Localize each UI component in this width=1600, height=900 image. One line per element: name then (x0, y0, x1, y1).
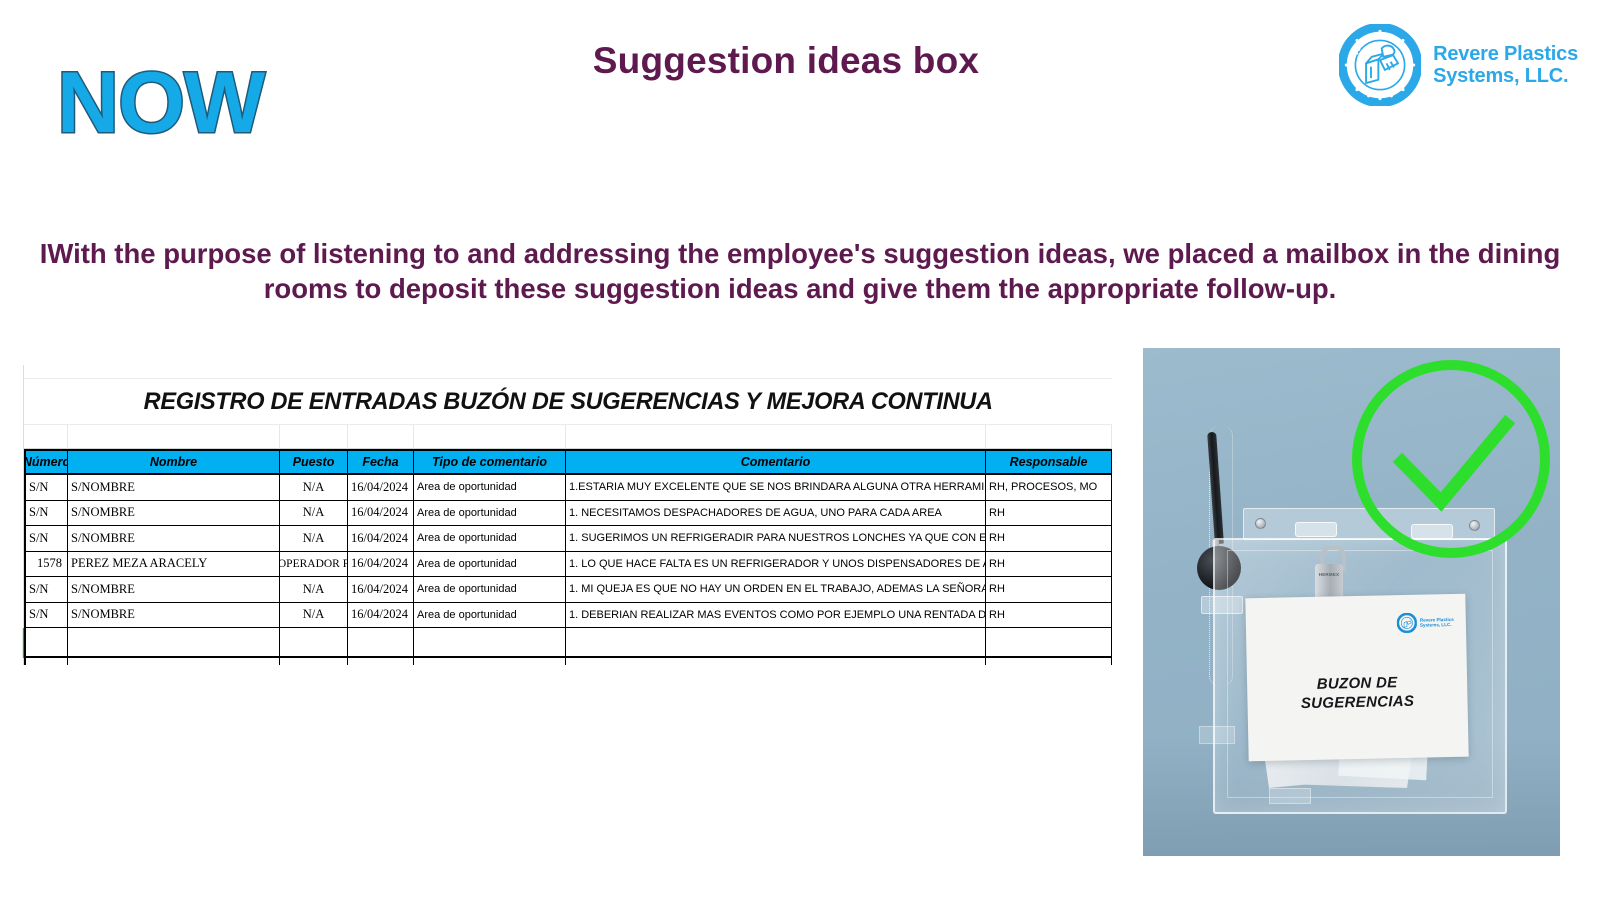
cell-numero: S/N (24, 603, 68, 629)
cell-tipo: Area de oportunidad (414, 552, 566, 578)
cell-fecha: 16/04/2024 (348, 603, 414, 629)
mount-screw-icon (1469, 520, 1480, 531)
slide-body-text: IWith the purpose of listening to and ad… (36, 236, 1564, 306)
cell-nombre: PEREZ MEZA ARACELY (68, 552, 280, 578)
spreadsheet-screenshot: 2 REGISTRO DE ENTRADAS BUZÓN DE SUGERENC… (22, 365, 1112, 665)
sign-company-name: Revere Plastics Systems, LLC. (1420, 617, 1454, 628)
cell-responsable: RH, PROCESOS, MO (986, 475, 1112, 501)
cell-puesto: N/A (280, 475, 348, 501)
cell-responsable: RH (986, 577, 1112, 603)
cell-comentario: 1. LO QUE HACE FALTA ES UN REFRIGERADOR … (566, 552, 986, 578)
cell-fecha: 16/04/2024 (348, 526, 414, 552)
padlock-icon: HERMEX (1315, 546, 1343, 602)
cell-tipo: Area de oportunidad (414, 475, 566, 501)
table-row: 6 S/N S/NOMBRE N/A 16/04/2024 Area de op… (22, 501, 1112, 527)
cell-numero: S/N (24, 526, 68, 552)
cell-responsable: RH (986, 526, 1112, 552)
table-row: 7 S/N S/NOMBRE N/A 16/04/2024 Area de op… (22, 526, 1112, 552)
cell-puesto: N/A (280, 577, 348, 603)
cell-fecha: 16/04/2024 (348, 552, 414, 578)
cell-numero: 1578 (24, 552, 68, 578)
cell-nombre: S/NOMBRE (68, 577, 280, 603)
cell-fecha: 16/04/2024 (348, 577, 414, 603)
table-row: 5 S/N S/NOMBRE N/A 16/04/2024 Area de op… (22, 475, 1112, 501)
cell-numero: S/N (24, 501, 68, 527)
revere-seal-icon (1397, 613, 1417, 633)
table-empty-row (22, 628, 1112, 658)
suggestion-box-photo: HERMEX Revere Plastics Systems, LLC. BUZ… (1143, 348, 1560, 856)
cell-nombre: S/NOMBRE (68, 526, 280, 552)
column-header-comentario: Comentario (566, 449, 986, 475)
table-tail-row (22, 658, 1112, 665)
cell-puesto: OPERADOR P (280, 552, 348, 578)
cell-responsable: RH (986, 552, 1112, 578)
column-header-fecha: Fecha (348, 449, 414, 475)
cell-responsable: RH (986, 603, 1112, 629)
cell-comentario: 1. MI QUEJA ES QUE NO HAY UN ORDEN EN EL… (566, 577, 986, 603)
cell-comentario: 1. DEBERIAN REALIZAR MAS EVENTOS COMO PO… (566, 603, 986, 629)
cell-tipo: Area de oportunidad (414, 526, 566, 552)
cell-comentario: 1. NECESITAMOS DESPACHADORES DE AGUA, UN… (566, 501, 986, 527)
cell-comentario: 1.ESTARIA MUY EXCELENTE QUE SE NOS BRIND… (566, 475, 986, 501)
sign-brand-logo: Revere Plastics Systems, LLC. (1397, 612, 1454, 633)
sign-line-2: SUGERENCIAS (1247, 691, 1467, 715)
mount-bracket (1295, 522, 1337, 537)
cell-tipo: Area de oportunidad (414, 603, 566, 629)
column-header-responsable: Responsable (986, 449, 1112, 475)
cell-puesto: N/A (280, 603, 348, 629)
table-row: 9 S/N S/NOMBRE N/A 16/04/2024 Area de op… (22, 577, 1112, 603)
mount-screw-icon (1255, 518, 1266, 529)
column-header-puesto: Puesto (280, 449, 348, 475)
sheet-title-row: 2 REGISTRO DE ENTRADAS BUZÓN DE SUGERENC… (22, 379, 1112, 425)
column-header-tipo: Tipo de comentario (414, 449, 566, 475)
cell-puesto: N/A (280, 526, 348, 552)
buzon-sign: Revere Plastics Systems, LLC. BUZON DE S… (1245, 594, 1468, 762)
cell-tipo: Area de oportunidad (414, 501, 566, 527)
cell-nombre: S/NOMBRE (68, 475, 280, 501)
box-mount-plate (1243, 508, 1495, 540)
column-header-numero: Número (24, 449, 68, 475)
cell-comentario: 1. SUGERIMOS UN REFRIGERADIR PARA NUESTR… (566, 526, 986, 552)
cell-nombre: S/NOMBRE (68, 501, 280, 527)
brand-logo: REVERE Revere Plastics Systems, LLC. (1339, 24, 1578, 106)
cell-fecha: 16/04/2024 (348, 501, 414, 527)
revere-seal-icon: REVERE (1339, 24, 1421, 106)
sheet-title: REGISTRO DE ENTRADAS BUZÓN DE SUGERENCIA… (143, 388, 992, 416)
sign-text: BUZON DE SUGERENCIAS (1247, 672, 1468, 715)
table-header-row: 4 Número Nombre Puesto Fecha Tipo de com… (22, 449, 1112, 475)
cell-puesto: N/A (280, 501, 348, 527)
company-name: Revere Plastics Systems, LLC. (1433, 43, 1578, 88)
padlock-brand-label: HERMEX (1315, 572, 1343, 577)
cell-responsable: RH (986, 501, 1112, 527)
cell-numero: S/N (24, 577, 68, 603)
table-row: 8 1578 PEREZ MEZA ARACELY OPERADOR P 16/… (22, 552, 1112, 578)
cell-nombre: S/NOMBRE (68, 603, 280, 629)
table-row: 0 S/N S/NOMBRE N/A 16/04/2024 Area de op… (22, 603, 1112, 629)
cell-fecha: 16/04/2024 (348, 475, 414, 501)
mount-bracket (1411, 524, 1453, 539)
column-header-nombre: Nombre (68, 449, 280, 475)
cell-tipo: Area de oportunidad (414, 577, 566, 603)
sheet-top-band (22, 365, 1112, 379)
cell-numero: S/N (24, 475, 68, 501)
sheet-spacer-row: 3 (22, 425, 1112, 449)
